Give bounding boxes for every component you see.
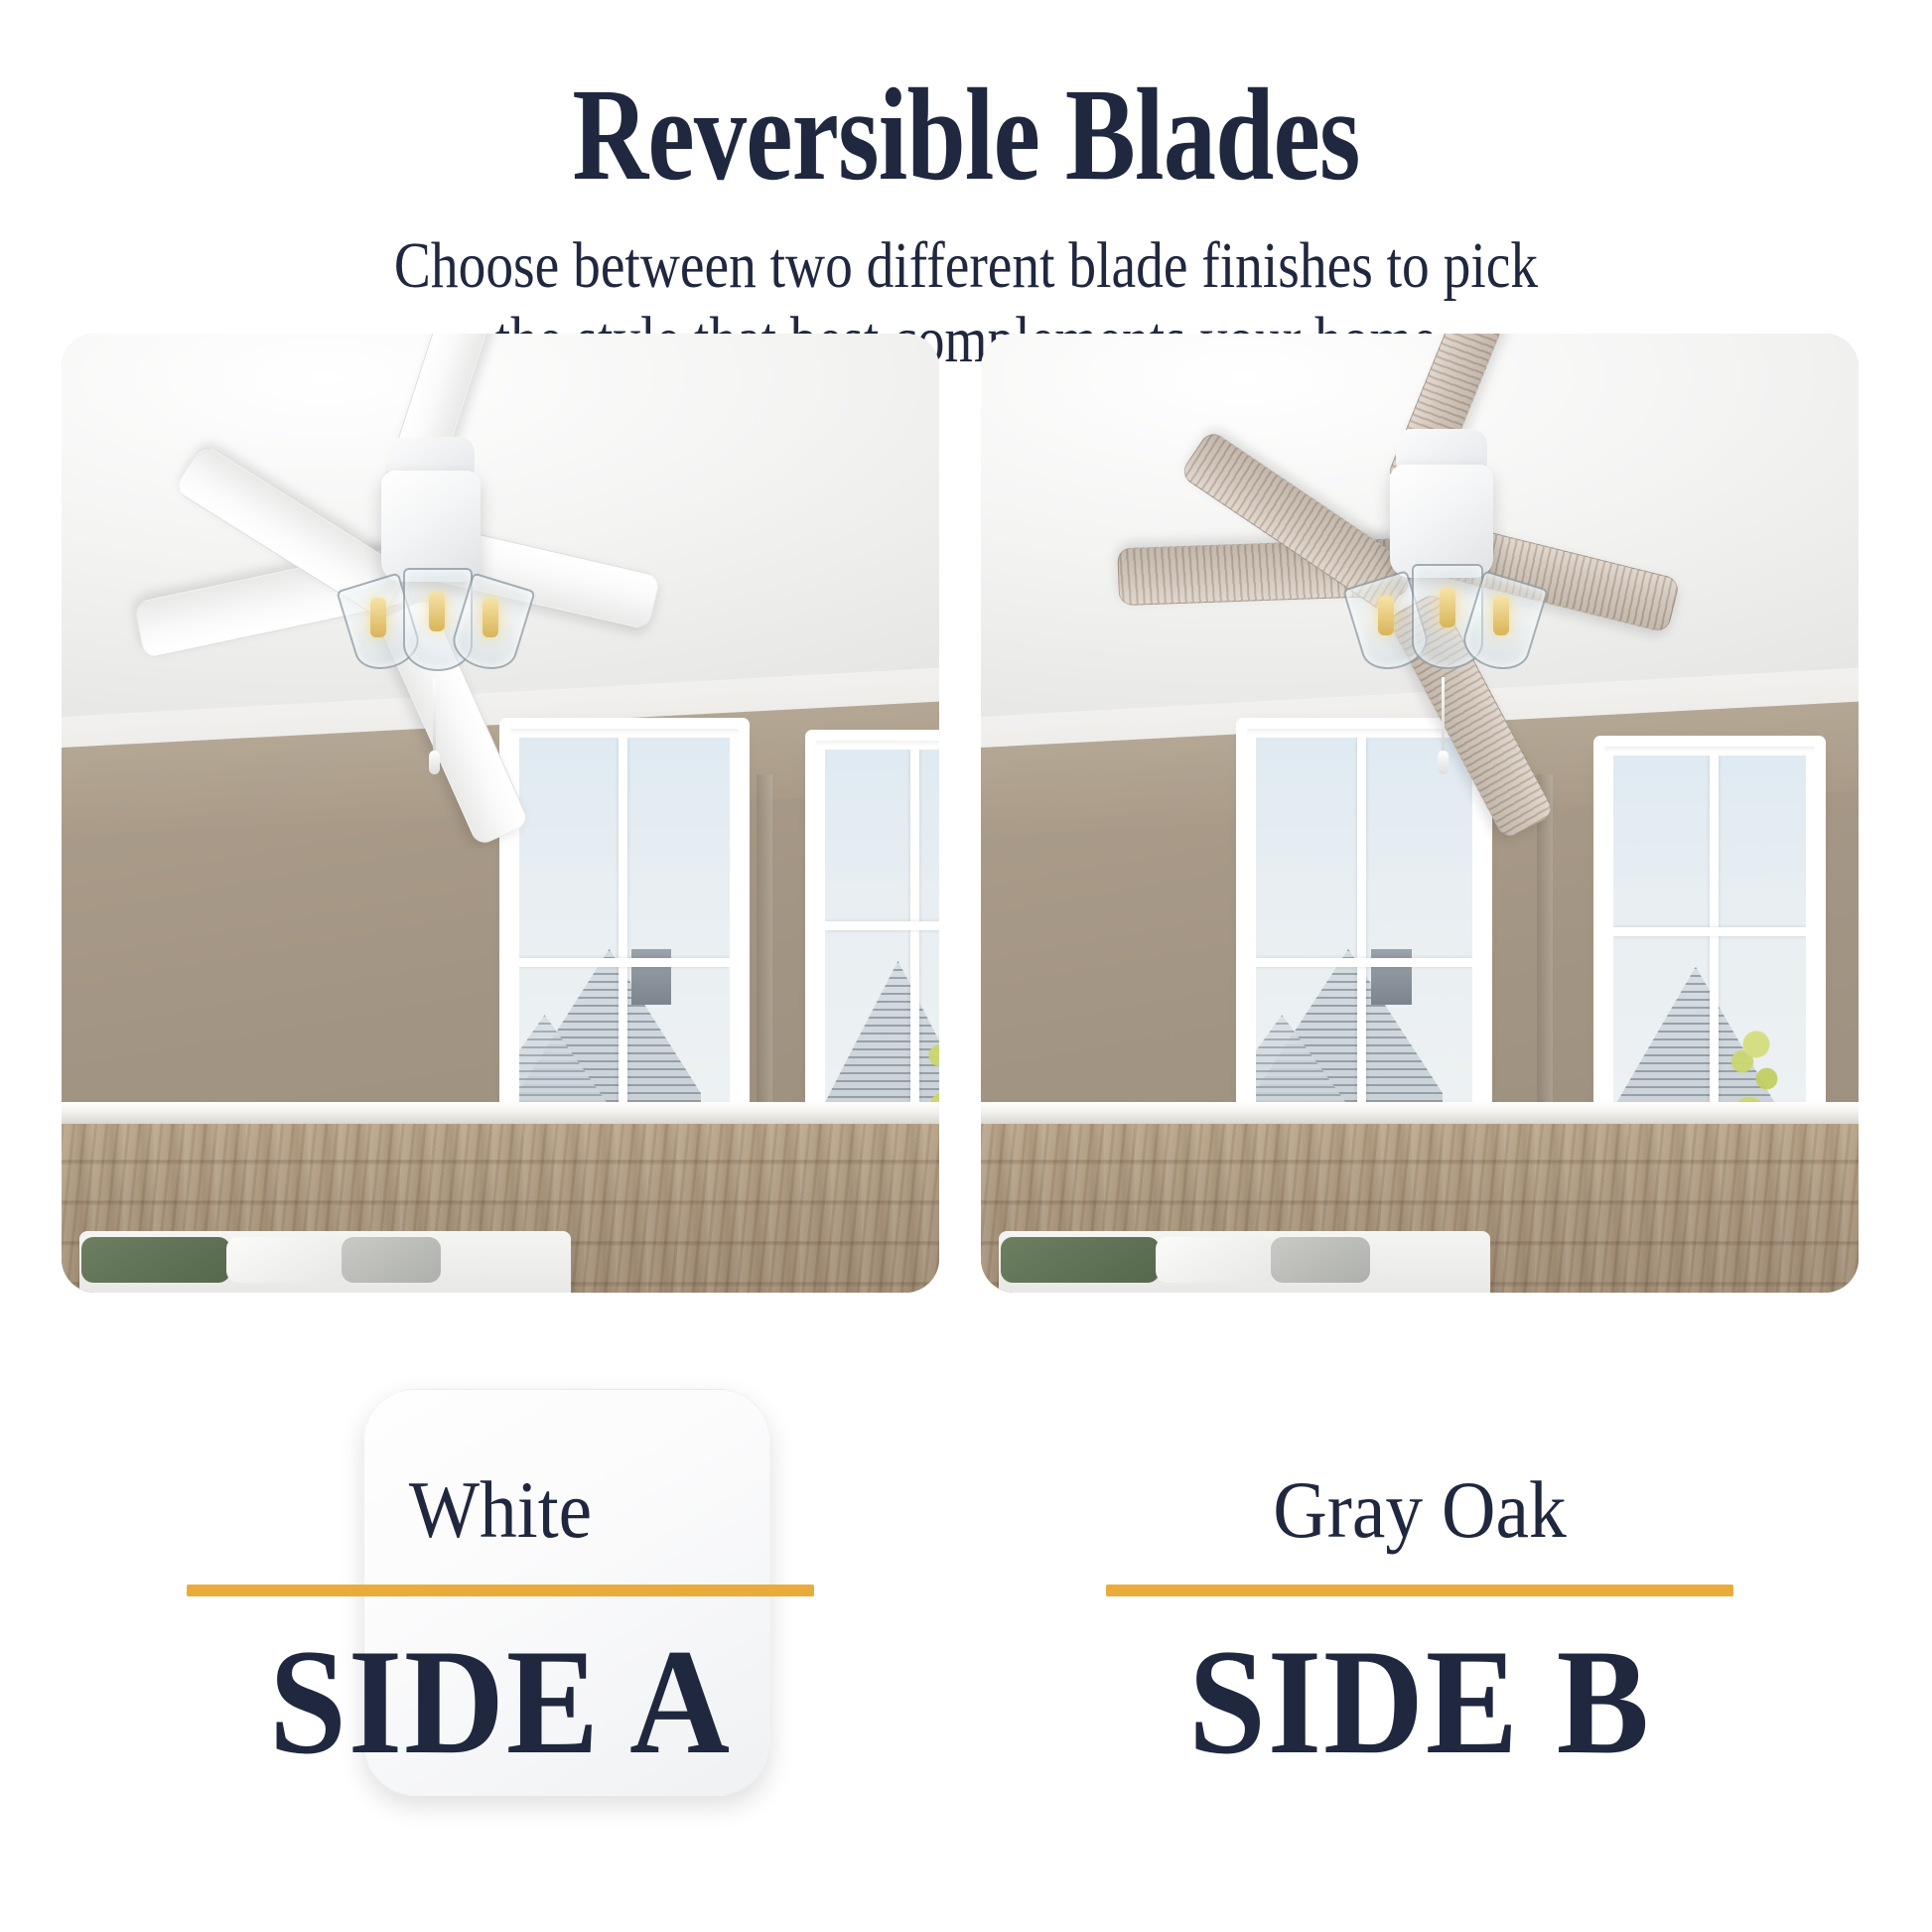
- label-group-side-b: Gray Oak SIDE B: [981, 1469, 1859, 1777]
- white-ceiling-fan-photo: [62, 334, 939, 1293]
- fan-light-kit: [345, 558, 524, 687]
- light-bulb-2: [1440, 588, 1455, 627]
- fan-pull-chain-knob[interactable]: [429, 751, 440, 774]
- side-label-b: SIDE B: [1016, 1626, 1823, 1777]
- subtitle-line-1: Choose between two different blade finis…: [155, 228, 1778, 303]
- page-title: Reversible Blades: [194, 68, 1739, 203]
- light-bulb-2: [429, 592, 445, 631]
- gold-divider-a: [187, 1585, 814, 1596]
- comparison-panels: [0, 334, 1932, 1297]
- infographic-page: Reversible Blades Choose between two dif…: [0, 0, 1932, 1932]
- finish-name-white: White: [96, 1469, 903, 1551]
- light-bulb-3: [483, 598, 498, 637]
- panel-side-a: [62, 334, 939, 1293]
- fan-pull-chain[interactable]: [1442, 677, 1445, 755]
- panel-side-b: [981, 334, 1859, 1293]
- fan-pull-chain[interactable]: [433, 679, 436, 755]
- fan-pull-chain-knob[interactable]: [1438, 751, 1449, 774]
- finish-labels: White SIDE A Gray Oak SIDE B: [0, 1469, 1932, 1932]
- finish-name-gray-oak: Gray Oak: [1016, 1469, 1823, 1551]
- light-bulb-1: [370, 598, 386, 637]
- ceiling-fan-white: [62, 334, 939, 1293]
- gold-divider-b: [1106, 1585, 1733, 1596]
- label-group-side-a: White SIDE A: [62, 1469, 939, 1777]
- light-bulb-3: [1493, 596, 1509, 635]
- gray-oak-ceiling-fan-photo: [981, 334, 1859, 1293]
- fan-light-kit: [1352, 554, 1539, 685]
- header: Reversible Blades Choose between two dif…: [0, 0, 1932, 377]
- ceiling-fan-gray-oak: [981, 334, 1859, 1293]
- side-label-a: SIDE A: [96, 1626, 903, 1777]
- light-bulb-1: [1378, 596, 1394, 635]
